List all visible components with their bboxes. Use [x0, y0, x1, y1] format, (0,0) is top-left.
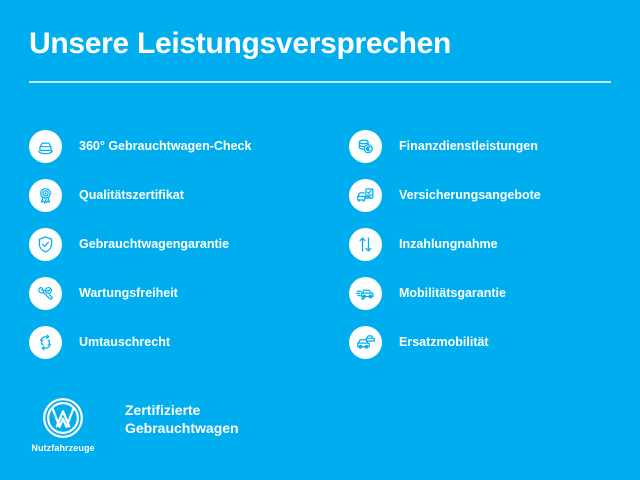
- feature-label: 360° Gebrauchtwagen-Check: [79, 139, 251, 154]
- footer-headline-line2: Gebrauchtwagen: [125, 419, 239, 437]
- feature-item: Versicherungsangebote: [349, 171, 640, 220]
- brand-logo-block: Nutzfahrzeuge: [29, 396, 97, 453]
- exchange-arrows-icon: [29, 326, 62, 359]
- feature-item: Ersatzmobilität: [349, 318, 640, 367]
- feature-label: Umtauschrecht: [79, 335, 170, 350]
- up-down-arrows-icon: [349, 228, 382, 261]
- feature-label: Inzahlungnahme: [399, 237, 498, 252]
- feature-label: Qualitätszertifikat: [79, 188, 184, 203]
- car-360-check-icon: [29, 130, 62, 163]
- feature-item: 360° Gebrauchtwagen-Check: [29, 122, 320, 171]
- feature-item: Finanzdienstleistungen: [349, 122, 640, 171]
- feature-label: Gebrauchtwagengarantie: [79, 237, 229, 252]
- footer-headline: Zertifizierte Gebrauchtwagen: [125, 401, 239, 437]
- feature-item: Wartungsfreiheit: [29, 269, 320, 318]
- feature-item: Umtauschrecht: [29, 318, 320, 367]
- shield-check-icon: [29, 228, 62, 261]
- promotional-banner: Unsere Leistungsversprechen 360° Gebrauc…: [0, 0, 640, 480]
- feature-label: Mobilitätsgarantie: [399, 286, 506, 301]
- feature-label: Wartungsfreiheit: [79, 286, 178, 301]
- features-column-right: Finanzdienstleistungen Versicherungsange…: [320, 122, 640, 367]
- features-grid: 360° Gebrauchtwagen-Check Qualitätszerti…: [0, 122, 640, 367]
- two-cars-icon: [349, 326, 382, 359]
- feature-item: Gebrauchtwagengarantie: [29, 220, 320, 269]
- wrench-check-icon: [29, 277, 62, 310]
- feature-item: Qualitätszertifikat: [29, 171, 320, 220]
- car-speed-check-icon: [349, 277, 382, 310]
- page-title: Unsere Leistungsversprechen: [29, 26, 611, 62]
- feature-item: Inzahlungnahme: [349, 220, 640, 269]
- footer-lockup: Nutzfahrzeuge Zertifizierte Gebrauchtwag…: [29, 396, 239, 453]
- award-rosette-icon: [29, 179, 62, 212]
- volkswagen-logo: [41, 396, 85, 440]
- feature-item: Mobilitätsgarantie: [349, 269, 640, 318]
- feature-label: Versicherungsangebote: [399, 188, 541, 203]
- car-document-check-icon: [349, 179, 382, 212]
- coins-euro-icon: [349, 130, 382, 163]
- feature-label: Ersatzmobilität: [399, 335, 489, 350]
- feature-label: Finanzdienstleistungen: [399, 139, 538, 154]
- header: Unsere Leistungsversprechen: [29, 26, 611, 62]
- logo-subtitle: Nutzfahrzeuge: [31, 443, 94, 453]
- header-divider: [29, 81, 611, 83]
- features-column-left: 360° Gebrauchtwagen-Check Qualitätszerti…: [0, 122, 320, 367]
- footer-headline-line1: Zertifizierte: [125, 401, 239, 419]
